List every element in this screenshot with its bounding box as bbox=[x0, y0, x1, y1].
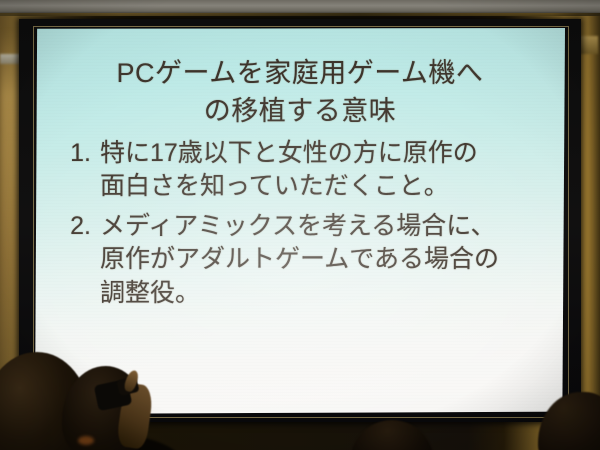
ceiling-strip bbox=[0, 0, 600, 14]
slide-bullet-list: 1. 特に17歳以下と女性の方に原作の面白さを知っていただくこと。 2. メディ… bbox=[53, 137, 547, 311]
ceiling-trim-line bbox=[0, 13, 600, 16]
list-item: 2. メディアミックスを考える場合に、原作がアダルトゲームである場合の調整役。 bbox=[53, 210, 547, 311]
slide-title-line-2: の移植する意味 bbox=[59, 92, 541, 130]
presentation-photo: PCゲームを家庭用ゲーム機へ の移植する意味 1. 特に17歳以下と女性の方に原… bbox=[0, 0, 600, 450]
list-item-text: メディアミックスを考える場合に、原作がアダルトゲームである場合の調整役。 bbox=[100, 210, 500, 311]
slide-title-line-1: PCゲームを家庭用ゲーム機へ bbox=[59, 54, 541, 92]
list-item-number: 2. bbox=[53, 210, 100, 244]
projected-slide: PCゲームを家庭用ゲーム機へ の移植する意味 1. 特に17歳以下と女性の方に原… bbox=[35, 28, 565, 414]
list-item: 1. 特に17歳以下と女性の方に原作の面白さを知っていただくこと。 bbox=[53, 137, 547, 204]
list-item-number: 1. bbox=[53, 137, 100, 171]
slide-content: PCゲームを家庭用ゲーム機へ の移植する意味 1. 特に17歳以下と女性の方に原… bbox=[35, 28, 565, 414]
wall-panel-left bbox=[0, 54, 20, 64]
list-item-text: 特に17歳以下と女性の方に原作の面白さを知っていただくこと。 bbox=[100, 137, 500, 204]
slide-title: PCゲームを家庭用ゲーム機へ の移植する意味 bbox=[59, 54, 541, 131]
